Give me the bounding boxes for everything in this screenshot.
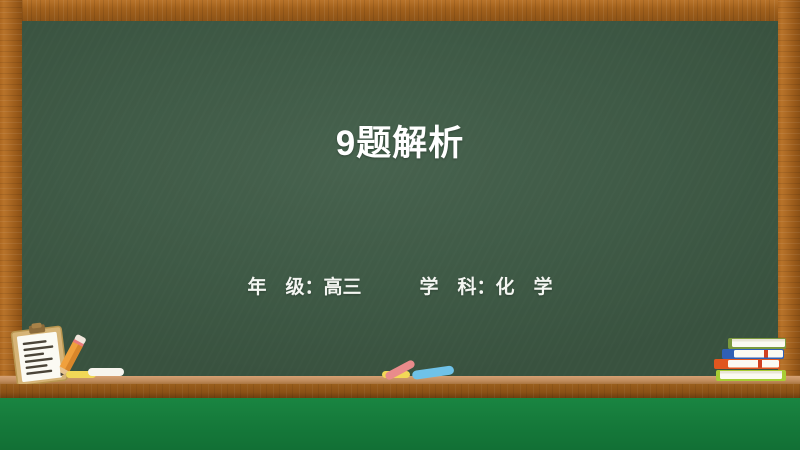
lower-wall-background: [0, 396, 800, 450]
subtitle-line: 年 级：高三学 科：化 学: [22, 273, 778, 301]
chalkboard-surface: 9题解析 年 级：高三学 科：化 学: [22, 21, 778, 378]
grade-value: 高三: [323, 276, 361, 298]
slide-root: 9题解析 年 级：高三学 科：化 学: [0, 0, 800, 450]
ledge-front-face: [0, 384, 800, 398]
frame-top-rail: [0, 0, 800, 21]
board-text-block: 9题解析 年 级：高三学 科：化 学: [22, 21, 778, 378]
page-title: 9题解析: [22, 121, 778, 167]
stacked-books-icon: [714, 330, 794, 382]
subject-value: 化 学: [496, 276, 553, 298]
chalk-sticks-center: [378, 358, 456, 380]
chalk-sticks-left: [66, 366, 126, 380]
grade-label: 年 级：: [247, 276, 323, 298]
subject-label: 学 科：: [420, 276, 496, 298]
